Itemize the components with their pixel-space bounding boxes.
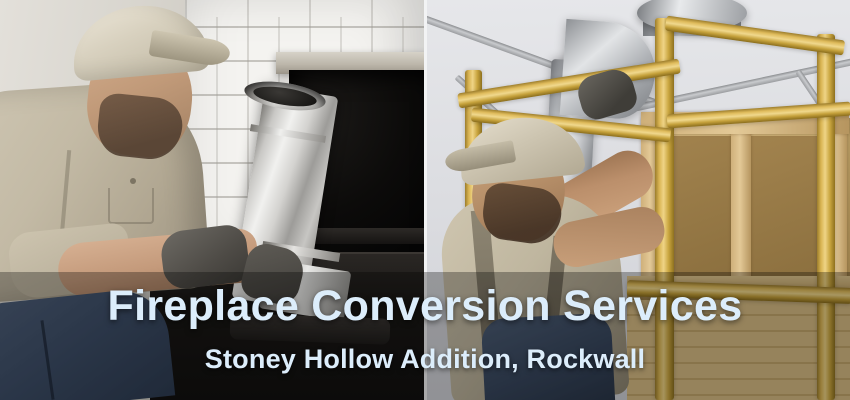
banner-title: Fireplace Conversion Services [108,284,743,329]
caption-block: Fireplace Conversion Services Stoney Hol… [0,272,850,400]
shirt-pocket [108,188,154,224]
shirt-button [130,178,136,184]
chase-bay-right [749,136,827,282]
chase-stud-2 [731,124,751,294]
service-banner: Fireplace Conversion Services Stoney Hol… [0,0,850,400]
banner-subtitle: Stoney Hollow Addition, Rockwall [205,344,645,375]
